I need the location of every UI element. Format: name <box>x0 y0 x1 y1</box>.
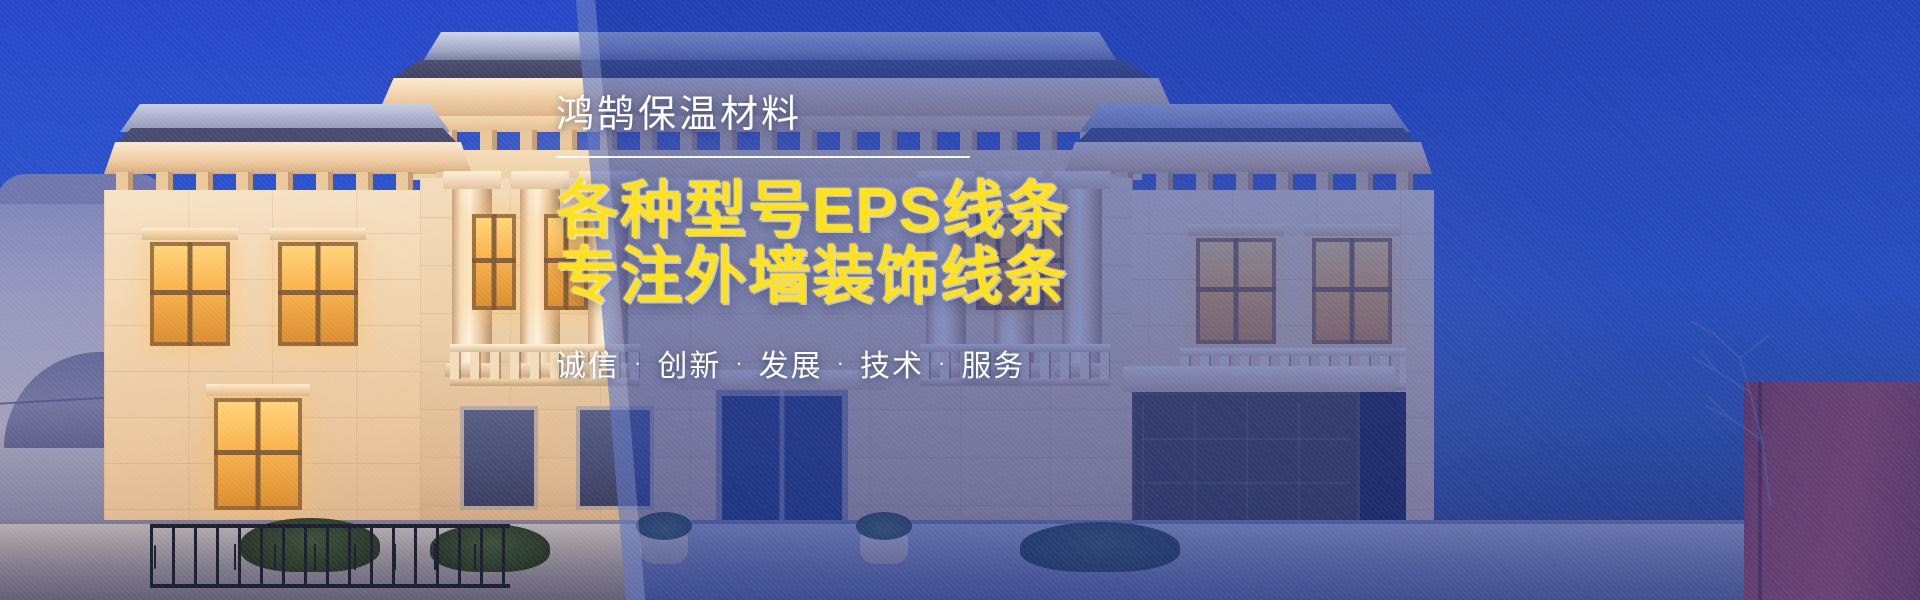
headline-block: 各种型号EPS线条 专注外墙装饰线条 <box>556 178 1336 311</box>
left-wing-roof <box>120 104 450 132</box>
left-wing-cornice <box>104 142 472 174</box>
window <box>472 214 516 310</box>
tagline-separator: · <box>938 350 947 376</box>
window <box>150 242 230 346</box>
tagline-separator: · <box>735 350 744 376</box>
tagline-item-2: 创新 <box>657 341 721 385</box>
tagline-separator: · <box>837 350 846 376</box>
window-cap <box>142 228 238 240</box>
window <box>278 242 358 346</box>
banner-copy: 鸿鹄保温材料 各种型号EPS线条 专注外墙装饰线条 诚信 · 创新 · 发展 ·… <box>556 96 1336 385</box>
brand-eyebrow: 鸿鹄保温材料 <box>556 96 1336 134</box>
planter <box>860 534 908 564</box>
window-dark <box>460 406 538 510</box>
tagline-item-3: 发展 <box>759 341 823 385</box>
iron-fence <box>150 518 510 600</box>
window-cap <box>270 228 366 240</box>
window-cap <box>206 384 310 396</box>
tagline-item-5: 服务 <box>961 341 1025 385</box>
left-wing-dentils <box>116 172 460 192</box>
tagline-item-1: 诚信 <box>556 341 620 385</box>
planter <box>640 534 688 564</box>
title-divider <box>556 156 970 158</box>
promo-banner: 鸿鹄保温材料 各种型号EPS线条 专注外墙装饰线条 诚信 · 创新 · 发展 ·… <box>0 0 1920 600</box>
tagline-separator: · <box>634 350 643 376</box>
window-dark <box>576 406 654 510</box>
headline-line-1: 各种型号EPS线条 <box>556 178 1336 244</box>
bare-tree-icon <box>1590 300 1800 510</box>
tagline: 诚信 · 创新 · 发展 · 技术 · 服务 <box>556 341 1336 385</box>
headline-line-2: 专注外墙装饰线条 <box>556 244 1336 310</box>
hedge <box>1020 522 1180 572</box>
window <box>214 398 302 510</box>
tagline-item-4: 技术 <box>860 341 924 385</box>
